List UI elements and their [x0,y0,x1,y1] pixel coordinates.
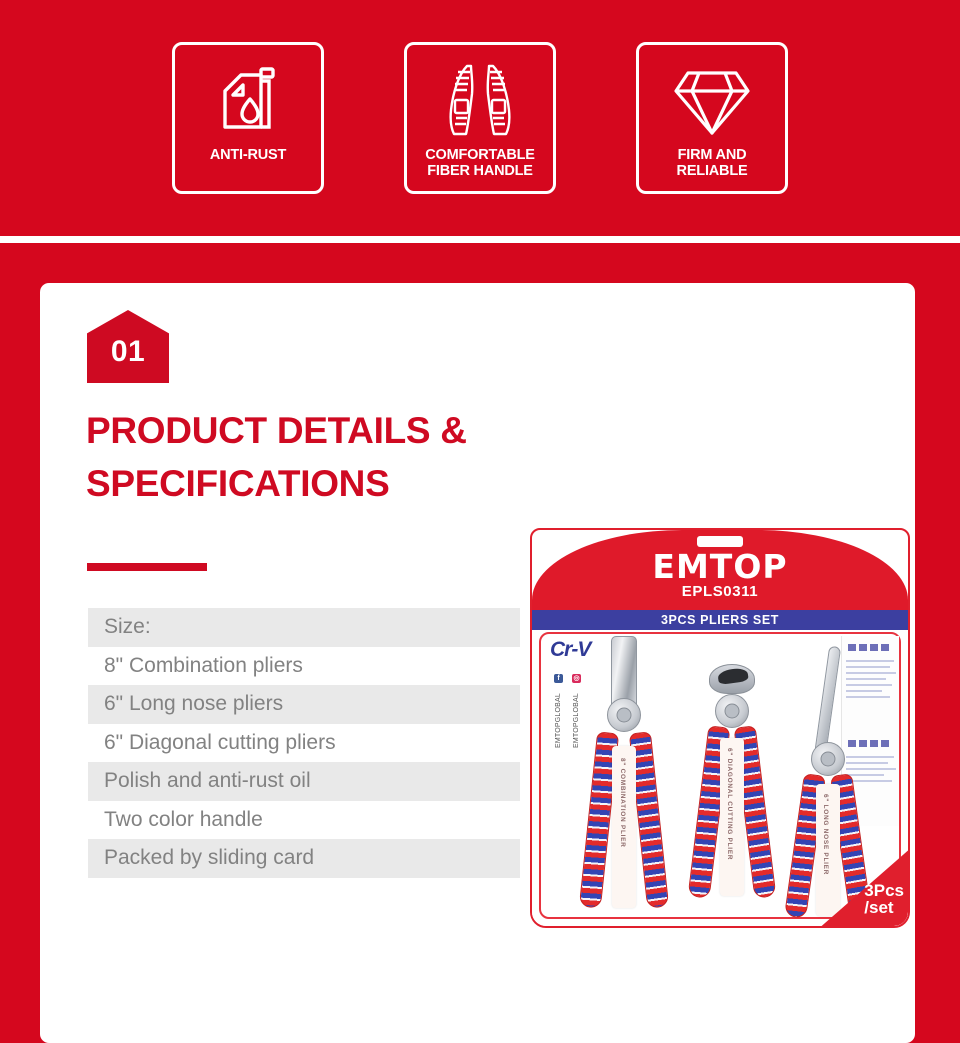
list-item: 6" Diagonal cutting pliers [88,724,520,763]
page-title-line1: PRODUCT DETAILS & [86,404,646,457]
tool-combination-pliers: 8" COMBINATION PLIER [572,636,676,916]
feature-badge-firm-reliable: FIRM AND RELIABLE [636,42,788,194]
pack-header: EMTOP EPLS0311 [532,530,908,610]
cutter-head [709,664,755,694]
list-item: 8" Combination pliers [88,647,520,686]
long-nose-jaw [815,646,841,751]
tool-label-text: 6" LONG NOSE PLIER [822,794,829,875]
hang-hole-tab [697,536,743,547]
feature-badge-label-line2: FIBER HANDLE [427,163,533,179]
brand-logo: EMTOP [532,547,908,586]
pack-body: Cr-V f EMTOPGLOBAL ◎ EMTOPGLOBAL [532,630,908,926]
feature-badge-fiber-handle: COMFORTABLE FIBER HANDLE [404,42,556,194]
product-image: EMTOP EPLS0311 3PCS PLIERS SET Cr-V f EM… [530,528,910,928]
social-facebook: f EMTOPGLOBAL [554,674,563,748]
list-item: Packed by sliding card [88,839,520,878]
list-item: Size: [88,608,520,647]
plier-pivot [607,698,641,732]
section-number-text: 01 [87,335,169,369]
product-details-card: 01 PRODUCT DETAILS & SPECIFICATIONS Size… [40,283,915,1043]
tool-label-text: 8" COMBINATION PLIER [619,758,626,848]
jerrycan-oil-icon [217,59,279,143]
blister-pack: EMTOP EPLS0311 3PCS PLIERS SET Cr-V f EM… [530,528,910,928]
band-divider [0,236,960,243]
feature-badge-label: COMFORTABLE FIBER HANDLE [425,147,535,179]
status-badge: 3Pcs /set [864,882,904,916]
set-title-text: 3PCS PLIERS SET [661,613,779,627]
feature-badge-anti-rust: ANTI-RUST [172,42,324,194]
heading-underline-rule [87,563,207,571]
feature-badge-label-line1: FIRM AND [678,147,747,163]
set-title-band: 3PCS PLIERS SET [532,610,908,630]
section-number-badge: 01 [87,310,169,383]
list-item: 6" Long nose pliers [88,685,520,724]
fiber-handle-icon [437,59,523,143]
facebook-icon: f [554,674,563,683]
feature-badge-label-line1: COMFORTABLE [425,147,535,163]
quantity-badge-line2: /set [864,899,904,916]
page-title: PRODUCT DETAILS & SPECIFICATIONS [86,404,646,511]
feature-badge-label: ANTI-RUST [210,147,286,163]
tool-label-text: 6" DIAGONAL CUTTING PLIER [726,748,733,860]
page-title-line2: SPECIFICATIONS [86,457,646,510]
feature-badge-label-line2: RELIABLE [677,163,748,179]
model-code: EPLS0311 [532,583,908,600]
specification-list: Size: 8" Combination pliers 6" Long nose… [88,608,520,878]
feature-band: ANTI-RUST COMFORTABLE FIBER HANDLE [0,0,960,236]
list-item: Polish and anti-rust oil [88,762,520,801]
quantity-badge-line1: 3Pcs [864,882,904,899]
social-handle-text: EMTOPGLOBAL [555,686,562,748]
diamond-icon [672,59,752,143]
feature-badge-label: FIRM AND RELIABLE [677,147,748,179]
list-item: Two color handle [88,801,520,840]
plier-pivot [811,742,845,776]
tool-diagonal-cutting-pliers: 6" DIAGONAL CUTTING PLIER [680,664,784,916]
tool-long-nose-pliers: 6" LONG NOSE PLIER [778,646,878,904]
plier-pivot [715,694,749,728]
